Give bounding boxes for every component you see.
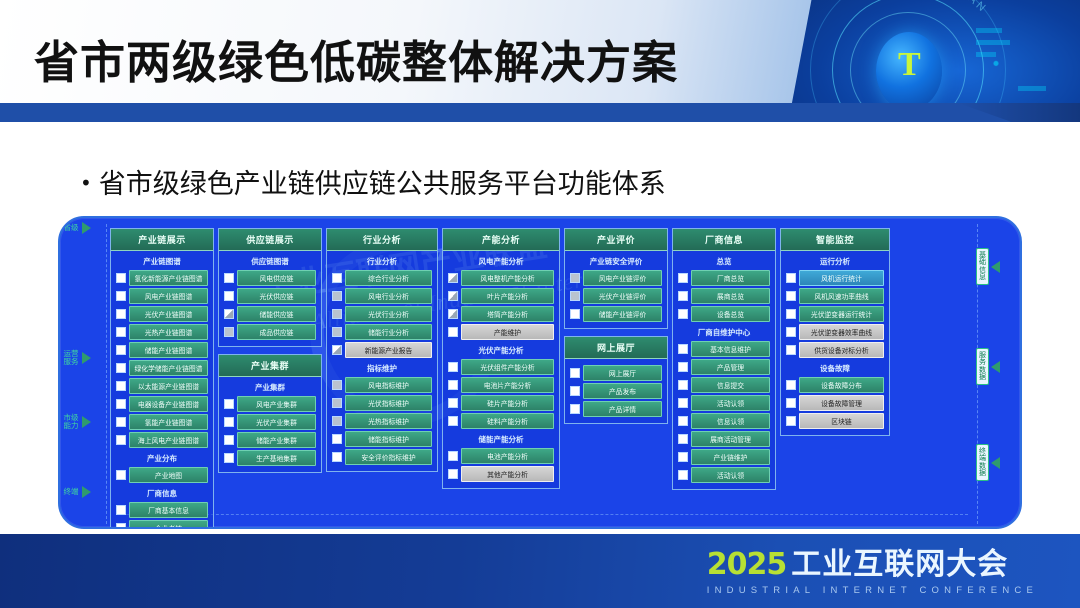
card-capacity-analysis-0: 产能分析风电产能分析风电整机产能分析叶片产能分析塔筒产能分析产能维护光伏产能分析…	[442, 228, 560, 489]
list-item[interactable]: 网上展厅	[570, 365, 662, 381]
list-item-label[interactable]: 产品发布	[583, 383, 662, 399]
list-item[interactable]: 光伏行业分析	[332, 306, 432, 322]
card-industry-evaluation-0: 产业评价产业链安全评价风电产业链评价光伏产业链评价储能产业链评价	[564, 228, 668, 329]
list-item[interactable]: 以太能源产业链图谱	[116, 378, 208, 394]
section-title: 风电产能分析	[443, 251, 559, 270]
list-item-label[interactable]: 展商总览	[691, 288, 770, 304]
list-item[interactable]: 储能产业链评价	[570, 306, 662, 322]
checkbox-icon[interactable]	[116, 470, 126, 480]
circuit-bar-2	[976, 40, 1010, 45]
card-industry-analysis-0: 行业分析行业分析综合行业分析风电行业分析光伏行业分析储能行业分析新能源产业报告指…	[326, 228, 438, 472]
list-item-label[interactable]: 信息提交	[691, 377, 770, 393]
list-item[interactable]: 电器设备产业链图谱	[116, 396, 208, 412]
list-item[interactable]: 厂商总览	[678, 270, 770, 286]
left-rail-label: 运营服务	[62, 350, 80, 367]
checkbox-icon[interactable]	[786, 309, 796, 319]
list-item[interactable]: 产品管理	[678, 359, 770, 375]
logo-year: 2025	[707, 550, 787, 580]
section-rows: 厂商基本信息企业考核	[111, 502, 213, 529]
list-item-label[interactable]: 储能供应链	[237, 306, 316, 322]
checkbox-icon[interactable]	[224, 453, 234, 463]
arrow-right-icon	[82, 222, 91, 234]
bullet-icon: •	[80, 171, 92, 195]
checkbox-icon[interactable]	[116, 417, 126, 427]
list-item-label[interactable]: 活动认领	[691, 467, 770, 483]
list-item[interactable]: 产品详情	[570, 401, 662, 417]
checkbox-icon[interactable]	[332, 327, 342, 337]
card-header[interactable]: 产业评价	[565, 229, 667, 251]
list-item-label[interactable]: 设备故障管理	[799, 395, 884, 411]
list-item[interactable]: 储能供应链	[224, 306, 316, 322]
list-item-label[interactable]: 风电指标维护	[345, 377, 432, 393]
arrow-left-icon	[991, 361, 1000, 373]
card-vendor-info-0: 厂商信息总览厂商总览展商总览设备总览厂商自维护中心基本信息维护产品管理信息提交活…	[672, 228, 776, 490]
checkbox-icon[interactable]	[448, 327, 458, 337]
list-item[interactable]: 硅料产能分析	[448, 413, 554, 429]
arrow-right-icon	[82, 352, 91, 364]
list-item[interactable]: 风电产业链图谱	[116, 288, 208, 304]
list-item-label[interactable]: 风电整机产能分析	[461, 270, 554, 286]
logo-cn-name: 工业互联网大会	[791, 550, 1008, 580]
right-rail-label: 终端数据	[976, 444, 989, 481]
checkbox-icon[interactable]	[786, 345, 796, 355]
list-item[interactable]: 光热产业链图谱	[116, 324, 208, 340]
card-header[interactable]: 智能监控	[781, 229, 889, 251]
list-item-label[interactable]: 光伏产业集群	[237, 414, 316, 430]
list-item[interactable]: 基本信息维护	[678, 341, 770, 357]
list-item[interactable]: 风电指标维护	[332, 377, 432, 393]
list-item[interactable]: 光伏供应链	[224, 288, 316, 304]
list-item[interactable]: 氢化新能源产业链图谱	[116, 270, 208, 286]
list-item-label[interactable]: 电器设备产业链图谱	[129, 396, 208, 412]
card-header[interactable]: 厂商信息	[673, 229, 775, 251]
checkbox-icon[interactable]	[332, 273, 342, 283]
section-title: 光伏产能分析	[443, 340, 559, 359]
list-item-label[interactable]: 厂商基本信息	[129, 502, 208, 518]
list-item-label[interactable]: 供货设备对标分析	[799, 342, 884, 358]
list-item[interactable]: 信息提交	[678, 377, 770, 393]
list-item-label[interactable]: 氢能产业链图谱	[129, 414, 208, 430]
checkbox-icon[interactable]	[570, 368, 580, 378]
section-rows: 风电产业集群光伏产业集群储能产业集群生产基地集群	[219, 396, 321, 466]
circuit-bar-4	[1018, 86, 1046, 91]
list-item[interactable]: 新能源产业报告	[332, 342, 432, 358]
logo-en-name: INDUSTRIAL INTERNET CONFERENCE	[707, 586, 1038, 596]
checkbox-icon[interactable]	[786, 327, 796, 337]
list-item-label[interactable]: 基本信息维护	[691, 341, 770, 357]
checkbox-icon[interactable]	[678, 416, 688, 426]
checkbox-icon[interactable]	[678, 344, 688, 354]
list-item[interactable]: 展商活动管理	[678, 431, 770, 447]
list-item[interactable]: 风机运行统计	[786, 270, 884, 286]
list-item-label[interactable]: 储能产业链图谱	[129, 342, 208, 358]
arrow-right-icon	[82, 416, 91, 428]
section-title: 行业分析	[327, 251, 437, 270]
circuit-bar-3	[976, 52, 996, 57]
checkbox-icon[interactable]	[224, 417, 234, 427]
list-item[interactable]: 塔筒产能分析	[448, 306, 554, 322]
checkbox-icon[interactable]	[332, 380, 342, 390]
slide-root: T CEYUAN 省市两级绿色低碳整体解决方案 •省市级绿色产业链供应链公共服务…	[0, 0, 1080, 608]
list-item-label[interactable]: 储能指标维护	[345, 431, 432, 447]
section-title: 产业链安全评价	[565, 251, 667, 270]
list-item-label[interactable]: 其他产能分析	[461, 466, 554, 482]
list-item-label[interactable]: 光伏行业分析	[345, 306, 432, 322]
card-header[interactable]: 行业分析	[327, 229, 437, 251]
list-item-label[interactable]: 风电产业集群	[237, 396, 316, 412]
checkbox-icon[interactable]	[570, 309, 580, 319]
checkbox-icon[interactable]	[332, 452, 342, 462]
list-item-label[interactable]: 风电产业链图谱	[129, 288, 208, 304]
checkbox-icon[interactable]	[448, 273, 458, 283]
card-header[interactable]: 供应链展示	[219, 229, 321, 251]
diagram-columns: 产业链展示产业链图谱氢化新能源产业链图谱风电产业链图谱光伏产业链图谱光热产业链图…	[110, 228, 976, 522]
section-title: 厂商自维护中心	[673, 322, 775, 341]
list-item[interactable]: 产能维护	[448, 324, 554, 340]
card-supply-chain-display-0: 供应链展示供应链图谱风电供应链光伏供应链储能供应链成品供应链	[218, 228, 322, 347]
diagram-column-industry-evaluation: 产业评价产业链安全评价风电产业链评价光伏产业链评价储能产业链评价网上展厅网上展厅…	[564, 228, 668, 522]
checkbox-icon[interactable]	[786, 273, 796, 283]
list-item-label[interactable]: 光伏供应链	[237, 288, 316, 304]
section-rows: 设备故障分布设备故障管理区块链	[781, 377, 889, 429]
list-item-label[interactable]: 企业考核	[129, 520, 208, 529]
section-rows: 风机运行统计风机风速功率曲线光伏逆变器运行统计光伏逆变器效率曲线供货设备对标分析	[781, 270, 889, 358]
list-item[interactable]: 风电行业分析	[332, 288, 432, 304]
checkbox-icon[interactable]	[678, 398, 688, 408]
list-item[interactable]: 储能产业链图谱	[116, 342, 208, 358]
left-rail-label: 市级能力	[62, 414, 80, 431]
list-item[interactable]: 风机风速功率曲线	[786, 288, 884, 304]
list-item-label[interactable]: 光伏逆变器运行统计	[799, 306, 884, 322]
list-item-label[interactable]: 产品管理	[691, 359, 770, 375]
left-rail: 省级运营服务市级能力终端	[60, 218, 104, 529]
list-item-label[interactable]: 风机风速功率曲线	[799, 288, 884, 304]
list-item-label[interactable]: 厂商总览	[691, 270, 770, 286]
section-rows: 风电指标维护光伏指标维护光热指标维护储能指标维护安全评价指标维护	[327, 377, 437, 465]
checkbox-icon[interactable]	[678, 380, 688, 390]
list-item[interactable]: 储能行业分析	[332, 324, 432, 340]
list-item[interactable]: 储能产业集群	[224, 432, 316, 448]
list-item[interactable]: 风电产业集群	[224, 396, 316, 412]
checkbox-icon[interactable]	[224, 291, 234, 301]
list-item-label[interactable]: 光伏产业链图谱	[129, 306, 208, 322]
list-item[interactable]: 产业链维护	[678, 449, 770, 465]
list-item-label[interactable]: 综合行业分析	[345, 270, 432, 286]
right-rail: 基础信息服务数据终端数据	[976, 218, 1020, 529]
list-item-label[interactable]: 信息认领	[691, 413, 770, 429]
list-item-label[interactable]: 产业链维护	[691, 449, 770, 465]
list-item[interactable]: 活动认领	[678, 395, 770, 411]
list-item-label[interactable]: 风电供应链	[237, 270, 316, 286]
list-item-label[interactable]: 储能产业链评价	[583, 306, 662, 322]
checkbox-icon[interactable]	[332, 416, 342, 426]
checkbox-icon[interactable]	[116, 309, 126, 319]
checkbox-icon[interactable]	[116, 399, 126, 409]
slide-footer: 2025 工业互联网大会 INDUSTRIAL INTERNET CONFERE…	[0, 534, 1080, 608]
card-supply-chain-display-1: 产业集群产业集群风电产业集群光伏产业集群储能产业集群生产基地集群	[218, 354, 322, 473]
list-item-label[interactable]: 产能维护	[461, 324, 554, 340]
checkbox-icon[interactable]	[224, 435, 234, 445]
section-title: 产业集群	[219, 377, 321, 396]
section-rows: 光伏组件产能分析电池片产能分析硅片产能分析硅料产能分析	[443, 359, 559, 429]
diagram-column-industry-analysis: 行业分析行业分析综合行业分析风电行业分析光伏行业分析储能行业分析新能源产业报告指…	[326, 228, 438, 522]
checkbox-icon[interactable]	[678, 291, 688, 301]
list-item-label[interactable]: 光伏指标维护	[345, 395, 432, 411]
list-item[interactable]: 供货设备对标分析	[786, 342, 884, 358]
list-item-label[interactable]: 叶片产能分析	[461, 288, 554, 304]
list-item-label[interactable]: 氢化新能源产业链图谱	[129, 270, 208, 286]
list-item-label[interactable]: 光伏逆变器效率曲线	[799, 324, 884, 340]
list-item[interactable]: 光伏产业集群	[224, 414, 316, 430]
list-item[interactable]: 光伏逆变器效率曲线	[786, 324, 884, 340]
checkbox-icon[interactable]	[332, 309, 342, 319]
list-item[interactable]: 风电供应链	[224, 270, 316, 286]
slide-header: T CEYUAN 省市两级绿色低碳整体解决方案	[0, 0, 1080, 122]
diagram-column-vendor-info: 厂商信息总览厂商总览展商总览设备总览厂商自维护中心基本信息维护产品管理信息提交活…	[672, 228, 776, 522]
list-item[interactable]: 风电产业链评价	[570, 270, 662, 286]
left-rail-item-2[interactable]: 市级能力	[62, 414, 91, 431]
section-rows: 风电整机产能分析叶片产能分析塔筒产能分析产能维护	[443, 270, 559, 340]
card-header[interactable]: 网上展厅	[565, 337, 667, 359]
card-header[interactable]: 产能分析	[443, 229, 559, 251]
section-rows: 产业地图	[111, 467, 213, 483]
page-title: 省市两级绿色低碳整体解决方案	[34, 26, 678, 91]
checkbox-icon[interactable]	[116, 327, 126, 337]
section-title: 供应链图谱	[219, 251, 321, 270]
list-item-label[interactable]: 电池产能分析	[461, 448, 554, 464]
checkbox-icon[interactable]	[116, 505, 126, 515]
list-item-label[interactable]: 以太能源产业链图谱	[129, 378, 208, 394]
checkbox-icon[interactable]	[448, 451, 458, 461]
checkbox-icon[interactable]	[116, 345, 126, 355]
checkbox-icon[interactable]	[332, 291, 342, 301]
checkbox-icon[interactable]	[116, 363, 126, 373]
section-subtitle-text: 省市级绿色产业链供应链公共服务平台功能体系	[99, 169, 666, 200]
left-rail-item-0[interactable]: 省级	[62, 222, 91, 234]
checkbox-icon[interactable]	[116, 273, 126, 283]
list-item[interactable]: 综合行业分析	[332, 270, 432, 286]
list-item-label[interactable]: 生产基地集群	[237, 450, 316, 466]
checkbox-icon[interactable]	[678, 273, 688, 283]
list-item[interactable]: 企业考核	[116, 520, 208, 529]
checkbox-icon[interactable]	[448, 362, 458, 372]
checkbox-icon[interactable]	[448, 416, 458, 426]
architecture-diagram: 工业互联网产业联盟 Alliance of Industrial Interne…	[58, 216, 1022, 529]
list-item-label[interactable]: 区块链	[799, 413, 884, 429]
checkbox-icon[interactable]	[116, 523, 126, 529]
checkbox-icon[interactable]	[678, 362, 688, 372]
diagram-column-smart-monitoring: 智能监控运行分析风机运行统计风机风速功率曲线光伏逆变器运行统计光伏逆变器效率曲线…	[780, 228, 890, 522]
checkbox-icon[interactable]	[570, 404, 580, 414]
checkbox-icon[interactable]	[448, 398, 458, 408]
list-item[interactable]: 设备总览	[678, 306, 770, 322]
list-item-label[interactable]: 安全评价指标维护	[345, 449, 432, 465]
section-subtitle: •省市级绿色产业链供应链公共服务平台功能体系	[80, 162, 666, 201]
list-item-label[interactable]: 新能源产业报告	[345, 342, 432, 358]
section-title: 设备故障	[781, 358, 889, 377]
list-item-label[interactable]: 设备总览	[691, 306, 770, 322]
section-rows: 基本信息维护产品管理信息提交活动认领信息认领展商活动管理产业链维护活动认领	[673, 341, 775, 483]
list-item-label[interactable]: 展商活动管理	[691, 431, 770, 447]
list-item-label[interactable]: 产品详情	[583, 401, 662, 417]
section-rows: 网上展厅产品发布产品详情	[565, 365, 667, 417]
list-item-label[interactable]: 光伏产业链评价	[583, 288, 662, 304]
left-rail-label: 终端	[62, 488, 80, 496]
list-item[interactable]: 光伏组件产能分析	[448, 359, 554, 375]
checkbox-icon[interactable]	[786, 291, 796, 301]
checkbox-icon[interactable]	[678, 452, 688, 462]
checkbox-icon[interactable]	[448, 309, 458, 319]
card-smart-monitoring-0: 智能监控运行分析风机运行统计风机风速功率曲线光伏逆变器运行统计光伏逆变器效率曲线…	[780, 228, 890, 436]
checkbox-icon[interactable]	[116, 381, 126, 391]
list-item[interactable]: 光伏产业链评价	[570, 288, 662, 304]
list-item[interactable]: 安全评价指标维护	[332, 449, 432, 465]
list-item-label[interactable]: 产业地图	[129, 467, 208, 483]
checkbox-icon[interactable]	[786, 380, 796, 390]
checkbox-icon[interactable]	[448, 380, 458, 390]
checkbox-icon[interactable]	[116, 435, 126, 445]
list-item-label[interactable]: 设备故障分布	[799, 377, 884, 393]
list-item[interactable]: 叶片产能分析	[448, 288, 554, 304]
left-rail-item-3[interactable]: 终端	[62, 486, 91, 498]
section-rows: 风电产业链评价光伏产业链评价储能产业链评价	[565, 270, 667, 322]
diagram-column-supply-chain-display: 供应链展示供应链图谱风电供应链光伏供应链储能供应链成品供应链产业集群产业集群风电…	[218, 228, 322, 522]
checkbox-icon[interactable]	[678, 470, 688, 480]
diagram-column-capacity-analysis: 产能分析风电产能分析风电整机产能分析叶片产能分析塔筒产能分析产能维护光伏产能分析…	[442, 228, 560, 522]
list-item-label[interactable]: 储能产业集群	[237, 432, 316, 448]
list-item-label[interactable]: 光热指标维护	[345, 413, 432, 429]
circuit-bar-1	[976, 28, 1002, 33]
checkbox-icon[interactable]	[448, 291, 458, 301]
list-item[interactable]: 硅片产能分析	[448, 395, 554, 411]
checkbox-icon[interactable]	[332, 434, 342, 444]
list-item[interactable]: 光伏产业链图谱	[116, 306, 208, 322]
left-rail-item-1[interactable]: 运营服务	[62, 350, 91, 367]
right-rail-label: 基础信息	[976, 248, 989, 285]
list-item-label[interactable]: 电池片产能分析	[461, 377, 554, 393]
section-rows: 综合行业分析风电行业分析光伏行业分析储能行业分析新能源产业报告	[327, 270, 437, 358]
list-item[interactable]: 产品发布	[570, 383, 662, 399]
list-item-label[interactable]: 硅片产能分析	[461, 395, 554, 411]
checkbox-icon[interactable]	[786, 398, 796, 408]
checkbox-icon[interactable]	[570, 273, 580, 283]
section-title: 产业链图谱	[111, 251, 213, 270]
card-industry-chain-display-0: 产业链展示产业链图谱氢化新能源产业链图谱风电产业链图谱光伏产业链图谱光热产业链图…	[110, 228, 214, 529]
section-rows: 厂商总览展商总览设备总览	[673, 270, 775, 322]
list-item[interactable]: 产业地图	[116, 467, 208, 483]
arrow-right-icon	[82, 486, 91, 498]
list-item[interactable]: 设备故障分布	[786, 377, 884, 393]
card-industry-evaluation-1: 网上展厅网上展厅产品发布产品详情	[564, 336, 668, 424]
checkbox-icon[interactable]	[332, 345, 342, 355]
list-item[interactable]: 储能指标维护	[332, 431, 432, 447]
list-item-label[interactable]: 塔筒产能分析	[461, 306, 554, 322]
right-rail-item-2[interactable]: 终端数据	[976, 444, 1000, 481]
checkbox-icon[interactable]	[332, 398, 342, 408]
list-item[interactable]: 其他产能分析	[448, 466, 554, 482]
right-rail-item-0[interactable]: 基础信息	[976, 248, 1000, 285]
section-title: 指标维护	[327, 358, 437, 377]
list-item[interactable]: 活动认领	[678, 467, 770, 483]
checkbox-icon[interactable]	[224, 309, 234, 319]
list-item-label[interactable]: 光伏组件产能分析	[461, 359, 554, 375]
list-item-label[interactable]: 绿化学储能产业链图谱	[129, 360, 208, 376]
list-item[interactable]: 海上风电产业链图谱	[116, 432, 208, 448]
section-title: 产业分布	[111, 448, 213, 467]
list-item-label[interactable]: 硅料产能分析	[461, 413, 554, 429]
list-item[interactable]: 氢能产业链图谱	[116, 414, 208, 430]
list-item[interactable]: 信息认领	[678, 413, 770, 429]
list-item[interactable]: 光伏逆变器运行统计	[786, 306, 884, 322]
list-item-label[interactable]: 风电产业链评价	[583, 270, 662, 286]
list-item-label[interactable]: 风机运行统计	[799, 270, 884, 286]
list-item[interactable]: 生产基地集群	[224, 450, 316, 466]
header-divider	[0, 103, 1010, 122]
diagram-column-industry-chain-display: 产业链展示产业链图谱氢化新能源产业链图谱风电产业链图谱光伏产业链图谱光热产业链图…	[110, 228, 214, 522]
arrow-left-icon	[991, 457, 1000, 469]
list-item[interactable]: 光热指标维护	[332, 413, 432, 429]
section-rows: 电池产能分析其他产能分析	[443, 448, 559, 482]
checkbox-icon[interactable]	[570, 291, 580, 301]
section-title: 总览	[673, 251, 775, 270]
list-item[interactable]: 电池片产能分析	[448, 377, 554, 393]
section-title: 运行分析	[781, 251, 889, 270]
checkbox-icon[interactable]	[678, 434, 688, 444]
list-item-label[interactable]: 光热产业链图谱	[129, 324, 208, 340]
checkbox-icon[interactable]	[448, 469, 458, 479]
checkbox-icon[interactable]	[224, 273, 234, 283]
list-item[interactable]: 光伏指标维护	[332, 395, 432, 411]
right-rail-label: 服务数据	[976, 348, 989, 385]
list-item-label[interactable]: 风电行业分析	[345, 288, 432, 304]
checkbox-icon[interactable]	[786, 416, 796, 426]
right-rail-item-1[interactable]: 服务数据	[976, 348, 1000, 385]
list-item-label[interactable]: 海上风电产业链图谱	[129, 432, 208, 448]
checkbox-icon[interactable]	[116, 291, 126, 301]
list-item[interactable]: 展商总览	[678, 288, 770, 304]
section-title: 储能产能分析	[443, 429, 559, 448]
list-item[interactable]: 风电整机产能分析	[448, 270, 554, 286]
conference-logo: 2025 工业互联网大会 INDUSTRIAL INTERNET CONFERE…	[707, 550, 1038, 596]
list-item-label[interactable]: 网上展厅	[583, 365, 662, 381]
list-item[interactable]: 电池产能分析	[448, 448, 554, 464]
arrow-left-icon	[991, 261, 1000, 273]
section-rows: 氢化新能源产业链图谱风电产业链图谱光伏产业链图谱光热产业链图谱储能产业链图谱绿化…	[111, 270, 213, 448]
left-rail-label: 省级	[62, 224, 80, 232]
brand-t-glyph: T	[898, 48, 921, 82]
checkbox-icon[interactable]	[224, 327, 234, 337]
checkbox-icon[interactable]	[224, 399, 234, 409]
section-title: 厂商信息	[111, 483, 213, 502]
list-item[interactable]: 区块链	[786, 413, 884, 429]
list-item[interactable]: 成品供应链	[224, 324, 316, 340]
list-item[interactable]: 厂商基本信息	[116, 502, 208, 518]
list-item-label[interactable]: 成品供应链	[237, 324, 316, 340]
list-item[interactable]: 绿化学储能产业链图谱	[116, 360, 208, 376]
list-item[interactable]: 设备故障管理	[786, 395, 884, 411]
checkbox-icon[interactable]	[678, 309, 688, 319]
card-header[interactable]: 产业集群	[219, 355, 321, 377]
checkbox-icon[interactable]	[570, 386, 580, 396]
list-item-label[interactable]: 储能行业分析	[345, 324, 432, 340]
section-rows: 风电供应链光伏供应链储能供应链成品供应链	[219, 270, 321, 340]
card-header[interactable]: 产业链展示	[111, 229, 213, 251]
list-item-label[interactable]: 活动认领	[691, 395, 770, 411]
